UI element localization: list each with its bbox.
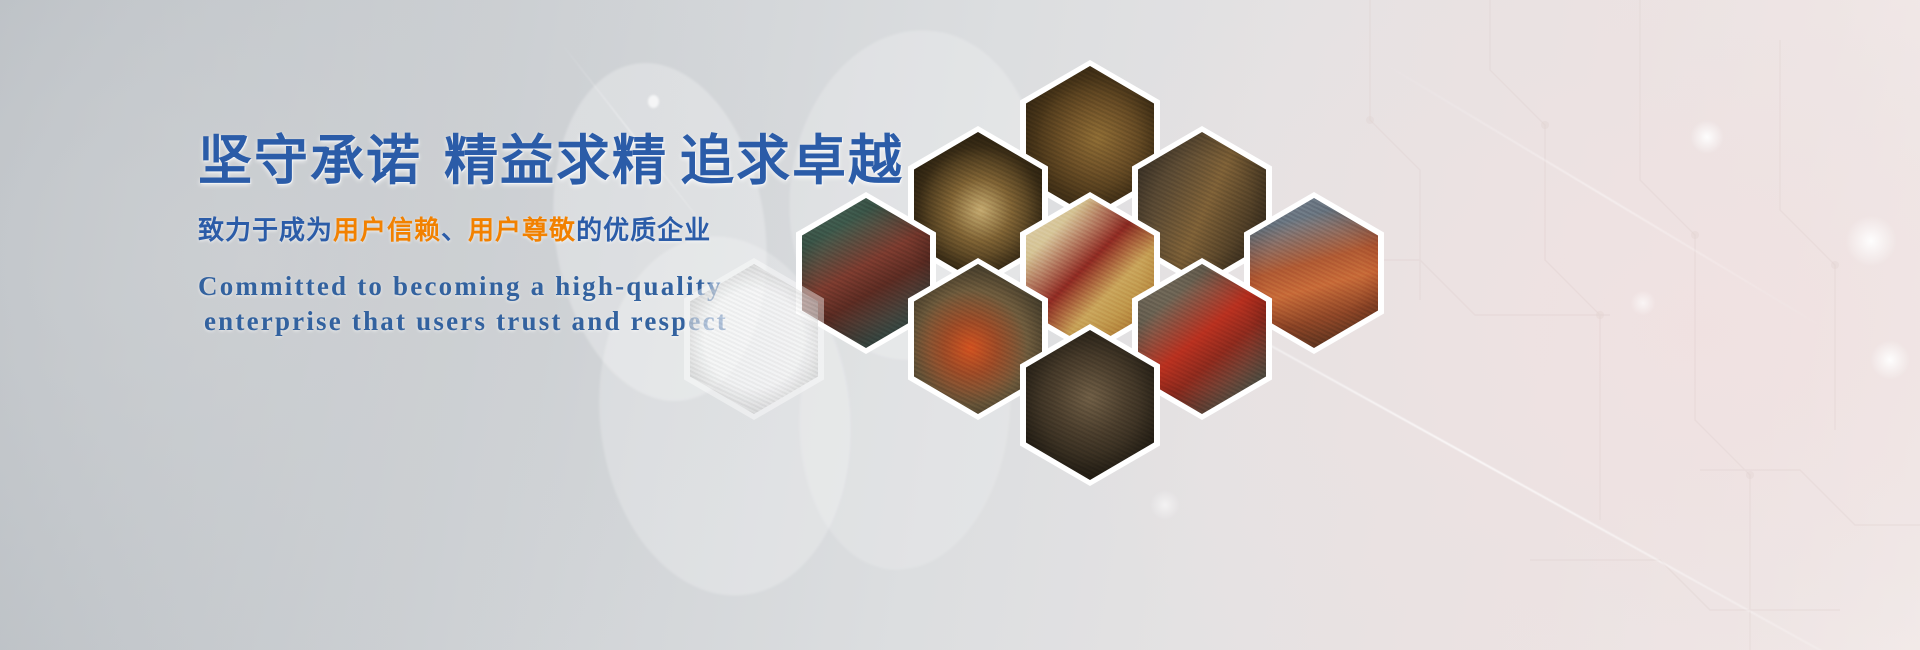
- hexagon-photo-collage: [760, 40, 1460, 540]
- headline-part-1: 坚守承诺: [198, 131, 422, 191]
- photo-heavy-machine-overhaul: [1026, 330, 1154, 480]
- light-dot-1: [1690, 120, 1724, 154]
- subtitle-separator: 、: [441, 215, 468, 245]
- light-dot-2: [1845, 215, 1897, 267]
- subtitle-highlight-1: 用户信赖: [333, 215, 441, 245]
- subtitle-tail: 的优质企业: [576, 215, 711, 245]
- subtitle-highlight-2: 用户尊敬: [468, 215, 576, 245]
- light-dot-3: [1870, 340, 1910, 380]
- watermark-dot: [648, 95, 659, 108]
- headline-part-2: 精益求精: [444, 131, 668, 191]
- light-dot-4: [1630, 290, 1656, 316]
- photo-placeholder-left: [690, 264, 818, 414]
- subtitle-lead: 致力于成为: [198, 215, 333, 245]
- promo-banner: 坚守承诺精益求精追求卓越 致力于成为用户信赖、用户尊敬的优质企业 Committ…: [0, 0, 1920, 650]
